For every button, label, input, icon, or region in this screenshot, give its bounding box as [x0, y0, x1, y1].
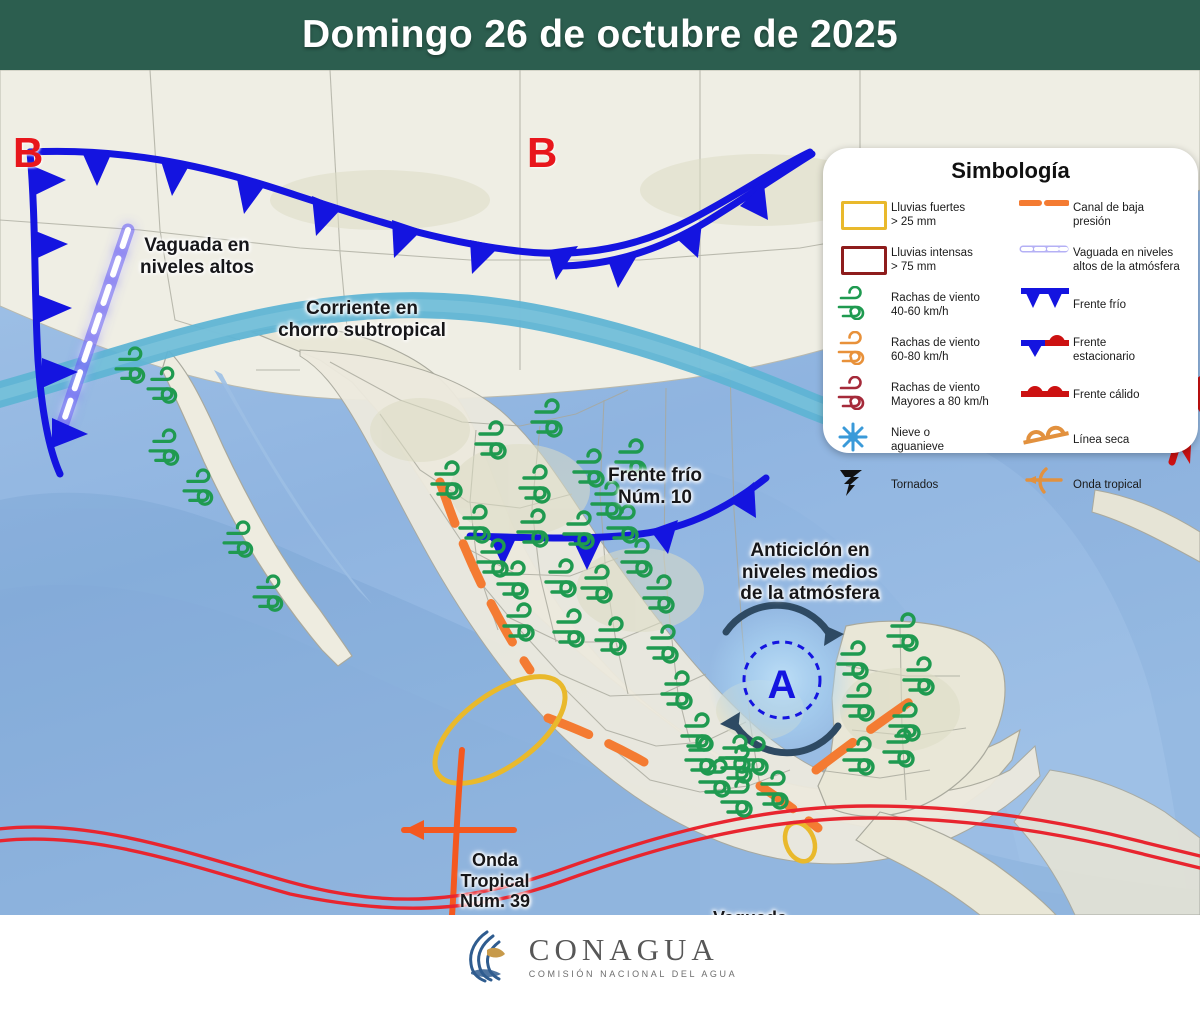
weather-map: A — [0, 70, 1200, 915]
legend-item-rachas-40-60: Rachas de viento 40-60 km/h — [837, 283, 1015, 328]
legend-label: Lluvias fuertes > 25 mm — [891, 202, 965, 230]
snowflake-icon — [837, 421, 891, 461]
legend-item-canal-baja-presion: Canal de baja presión — [1019, 193, 1197, 238]
legend-item-vaguada-altos: Vaguada en niveles altos de la atmósfera — [1019, 238, 1197, 283]
cold-front-icon — [1019, 286, 1073, 326]
conagua-subtitle: COMISIÓN NACIONAL DEL AGUA — [529, 969, 737, 979]
legend-label: Rachas de viento 40-60 km/h — [891, 292, 980, 320]
upper-trough-icon — [1019, 241, 1073, 281]
legend-label: Línea seca — [1073, 434, 1129, 448]
low-pressure-marker-west: B — [13, 132, 43, 174]
yellow-rectangle-icon — [837, 196, 891, 236]
warm-front-icon — [1019, 376, 1073, 416]
low-pressure-marker-east: B — [527, 132, 557, 174]
tornado-icon — [837, 466, 891, 506]
legend-title: Simbología — [823, 158, 1198, 184]
legend-item-rachas-60-80: Rachas de viento 60-80 km/h — [837, 328, 1015, 373]
legend-label: Vaguada en niveles altos de la atmósfera — [1073, 247, 1180, 275]
legend-item-frente-calido: Frente cálido — [1019, 373, 1197, 418]
legend-label: Canal de baja presión — [1073, 202, 1144, 230]
legend-item-nieve: Nieve o aguanieve — [837, 418, 1015, 463]
legend-column-left: Lluvias fuertes > 25 mm Lluvias intensas… — [837, 193, 1015, 508]
legend-label: Frente cálido — [1073, 389, 1139, 403]
legend-label: Rachas de viento Mayores a 80 km/h — [891, 382, 989, 410]
legend-label: Nieve o aguanieve — [891, 427, 944, 455]
footer: CONAGUA COMISIÓN NACIONAL DEL AGUA — [0, 915, 1200, 1027]
legend-item-lluvias-intensas: Lluvias intensas > 75 mm — [837, 238, 1015, 283]
legend-item-tornados: Tornados — [837, 463, 1015, 508]
red-rectangle-icon — [837, 241, 891, 281]
anticyclone-symbol: A — [708, 605, 856, 754]
page-title: Domingo 26 de octubre de 2025 — [0, 0, 1200, 70]
legend-panel: Simbología Lluvias fuertes > 25 mm Lluvi… — [823, 148, 1198, 453]
header-bar: Domingo 26 de octubre de 2025 — [0, 0, 1200, 70]
tropical-wave-icon — [1019, 466, 1073, 506]
legend-label: Lluvias intensas > 75 mm — [891, 247, 973, 275]
legend-item-linea-seca: Línea seca — [1019, 418, 1197, 463]
stationary-front-icon — [1019, 331, 1073, 371]
legend-label: Tornados — [891, 479, 938, 493]
legend-item-frente-frio: Frente frío — [1019, 283, 1197, 328]
conagua-water-icon — [463, 928, 515, 984]
wind-gust-green-icon — [837, 286, 891, 326]
conagua-logo: CONAGUA COMISIÓN NACIONAL DEL AGUA — [0, 925, 1200, 987]
legend-item-rachas-mayores-80: Rachas de viento Mayores a 80 km/h — [837, 373, 1015, 418]
legend-column-right: Canal de baja presión — [1019, 193, 1197, 508]
legend-label: Frente frío — [1073, 299, 1126, 313]
legend-item-lluvias-fuertes: Lluvias fuertes > 25 mm — [837, 193, 1015, 238]
legend-label: Rachas de viento 60-80 km/h — [891, 337, 980, 365]
weather-map-page: Domingo 26 de octubre de 2025 — [0, 0, 1200, 1027]
dry-line-icon — [1019, 421, 1073, 461]
legend-item-onda-tropical: Onda tropical — [1019, 463, 1197, 508]
legend-label: Onda tropical — [1073, 479, 1141, 493]
wind-gust-orange-icon — [837, 331, 891, 371]
conagua-logo-text: CONAGUA COMISIÓN NACIONAL DEL AGUA — [529, 934, 737, 979]
wind-gust-red-icon — [837, 376, 891, 416]
dashed-orange-line-icon — [1019, 196, 1073, 236]
legend-label: Frente estacionario — [1073, 337, 1135, 365]
svg-text:A: A — [768, 663, 797, 707]
conagua-name: CONAGUA — [529, 934, 737, 965]
legend-item-frente-estacionario: Frente estacionario — [1019, 328, 1197, 373]
